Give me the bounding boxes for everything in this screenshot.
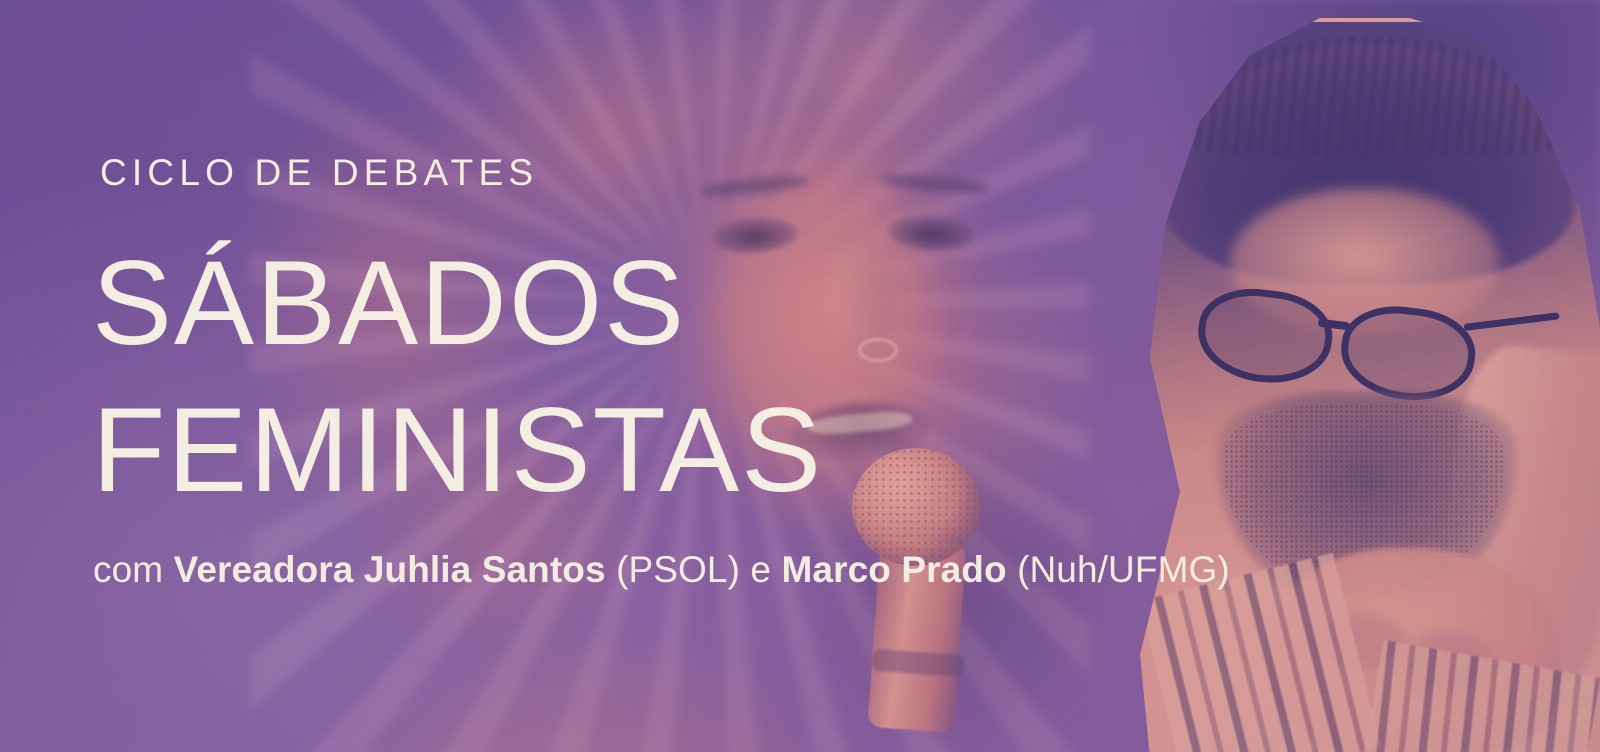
banner-kicker: CICLO DE DEBATES: [100, 152, 538, 194]
speaker-1-name: Vereadora Juhlia Santos: [174, 549, 606, 590]
banner-title-line-1: SÁBADOS: [92, 243, 686, 363]
duotone-photo-background: [0, 0, 1600, 752]
banner-title-line-2: FEMINISTAS: [92, 390, 823, 510]
nose-ring-icon: [858, 338, 898, 362]
speaker-1-affiliation: (PSOL): [606, 549, 751, 590]
subtitle-conjunction: e: [750, 549, 781, 590]
speaker-2-affiliation: (Nuh/UFMG): [1007, 549, 1230, 590]
event-banner: CICLO DE DEBATES SÁBADOS FEMINISTAS com …: [0, 0, 1600, 752]
speaker-2-name: Marco Prado: [781, 549, 1006, 590]
banner-subtitle: com Vereadora Juhlia Santos (PSOL) e Mar…: [93, 549, 1230, 591]
subtitle-lead: com: [93, 549, 174, 590]
